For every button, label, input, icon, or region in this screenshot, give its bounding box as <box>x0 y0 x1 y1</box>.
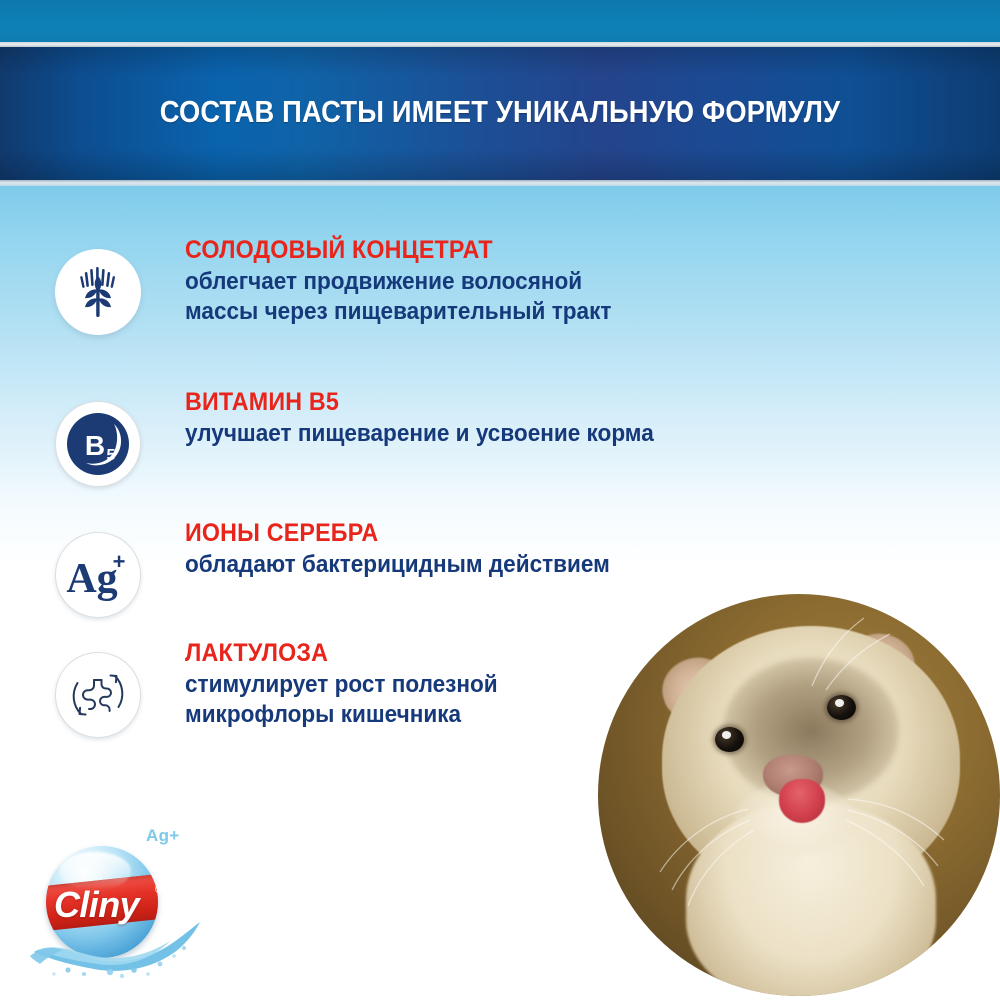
feature-description: обладают бактерицидным действием <box>185 550 777 580</box>
page-title: СОСТАВ ПАСТЫ ИМЕЕТ УНИКАЛЬНУЮ ФОРМУЛУ <box>60 94 940 130</box>
wheat-ear-icon <box>55 249 141 335</box>
feature-desc-line: улучшает пищеварение и усвоение корма <box>185 419 777 449</box>
logo-water-splash <box>24 912 224 984</box>
header-top-strip <box>0 0 1000 42</box>
feature-title: ИОНЫ СЕРЕБРА <box>185 519 771 547</box>
ferret-photo-inner <box>598 594 1000 996</box>
feature-text-silver-ions: ИОНЫ СЕРЕБРА обладают бактерицидным дейс… <box>185 519 815 580</box>
ferret-photo <box>598 594 1000 996</box>
logo-agplus-label: Ag+ <box>146 826 180 846</box>
vitamin-b5-subscript: 5 <box>107 447 116 464</box>
logo-registered-mark: ® <box>155 884 163 896</box>
silver-ion-icon: Ag + <box>55 532 141 618</box>
ferret-whiskers <box>598 594 1000 996</box>
silver-charge-superscript: + <box>113 549 126 574</box>
intestine-icon <box>55 652 141 738</box>
brand-logo: Ag+ Cliny ® <box>24 824 224 984</box>
feature-desc-line: массы через пищеварительный тракт <box>185 297 777 327</box>
vitamin-b5-letter: B <box>85 430 105 461</box>
feature-desc-line: облегчает продвижение волосяной <box>185 267 777 297</box>
feature-title: ВИТАМИН B5 <box>185 388 771 416</box>
feature-description: улучшает пищеварение и усвоение корма <box>185 419 777 449</box>
feature-text-malt: СОЛОДОВЫЙ КОНЦЕТРАТ облегчает продвижени… <box>185 236 815 327</box>
feature-title: СОЛОДОВЫЙ КОНЦЕТРАТ <box>185 236 771 264</box>
silver-symbol: Ag <box>66 556 117 602</box>
feature-description: облегчает продвижение волосяной массы че… <box>185 267 777 327</box>
feature-desc-line: обладают бактерицидным действием <box>185 550 777 580</box>
vitamin-b5-icon: B 5 <box>55 401 141 487</box>
feature-text-vitamin-b5: ВИТАМИН B5 улучшает пищеварение и усвоен… <box>185 388 815 449</box>
product-infographic: СОСТАВ ПАСТЫ ИМЕЕТ УНИКАЛЬНУЮ ФОРМУЛУ <box>0 0 1000 1000</box>
